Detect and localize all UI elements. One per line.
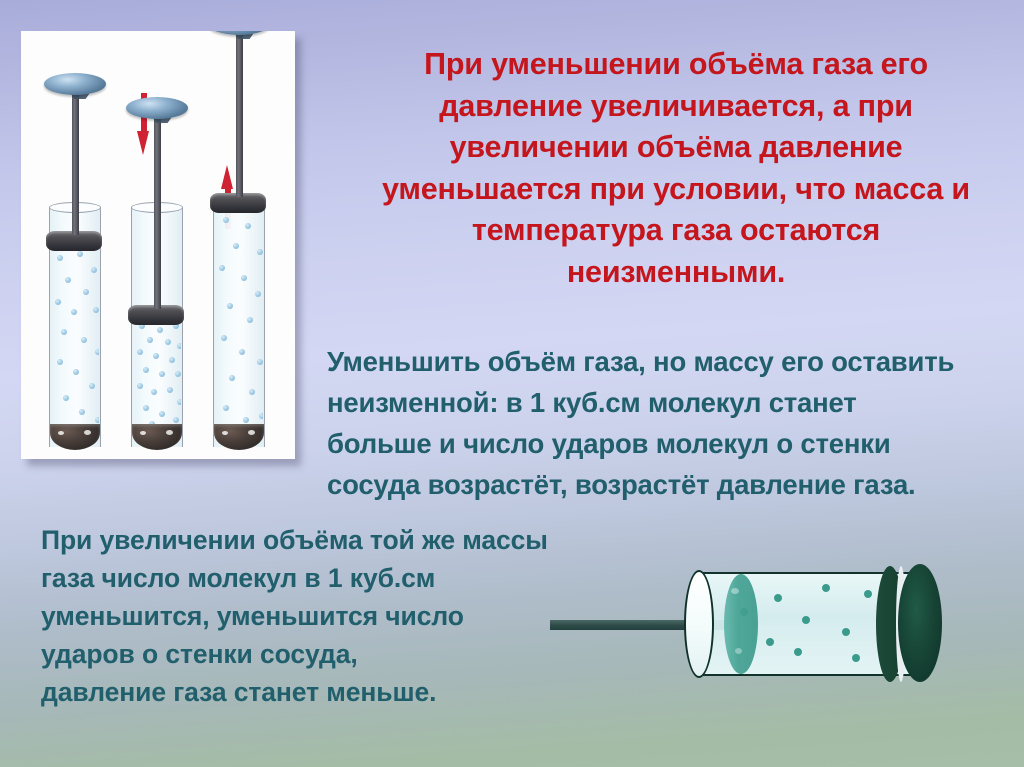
gas-molecule: [73, 369, 79, 375]
gas-region: [215, 209, 263, 431]
left-figure-frame: [21, 31, 295, 459]
gas-molecule: [63, 395, 69, 401]
gas-molecule: [151, 389, 157, 395]
gas-molecule: [257, 359, 263, 365]
gas-molecule: [167, 387, 173, 393]
red-statement-line: давление увеличивается, а при: [340, 86, 1012, 128]
gas-molecule: [165, 339, 171, 345]
gas-molecule: [802, 616, 810, 624]
gas-molecule: [245, 223, 251, 229]
gas-molecule: [223, 217, 229, 223]
gas-molecule: [159, 411, 165, 417]
syringe-plunger-disc: [724, 574, 758, 674]
gas-molecule: [177, 343, 181, 349]
teal-statement-paragraph: Уменьшить объём газа, но массу его остав…: [327, 341, 1023, 505]
gas-molecule: [864, 590, 872, 598]
plunger-thumb-cap: [126, 97, 188, 119]
gas-molecule: [81, 337, 87, 343]
syringe-front-rim: [684, 570, 714, 678]
gas-molecule: [233, 243, 239, 249]
gas-molecule: [852, 654, 860, 662]
gas-region: [51, 245, 99, 431]
gas-molecule: [95, 349, 99, 355]
gas-molecule: [173, 417, 179, 423]
gas-molecule: [71, 309, 77, 315]
teal-statement-line: сосуда возрастёт, возрастёт давление газ…: [327, 464, 1023, 505]
gas-region: [133, 319, 181, 431]
gas-molecule: [175, 371, 181, 377]
teal-statement-line: больше и число ударов молекул о стенки: [327, 423, 1023, 464]
gas-molecule: [241, 275, 247, 281]
gas-molecule: [91, 267, 97, 273]
gas-molecule: [822, 584, 830, 592]
teal-statement-line: неизменной: в 1 куб.см молекул станет: [327, 382, 1023, 423]
red-statement-line: температура газа остаются: [340, 210, 1012, 252]
gas-molecule: [137, 349, 143, 355]
syringe-nozzle-bulb: [132, 424, 182, 450]
gas-molecule: [143, 405, 149, 411]
gas-molecule: [89, 383, 95, 389]
syringe-compressed: [131, 47, 183, 447]
gas-molecule: [794, 648, 802, 656]
slide-canvas: При уменьшении объёма газа его давление …: [0, 0, 1024, 767]
plunger-rod: [236, 31, 243, 197]
gas-molecule: [83, 289, 89, 295]
gas-molecule: [249, 389, 255, 395]
plunger-thumb-cap: [208, 31, 270, 35]
syringe-neutral: [49, 47, 101, 447]
gas-molecule: [177, 399, 181, 405]
gas-molecule: [223, 405, 229, 411]
gas-molecule: [157, 327, 163, 333]
red-statement-paragraph: При уменьшении объёма газа его давление …: [340, 44, 1012, 293]
gas-molecule: [79, 409, 85, 415]
plunger-thumb-cap: [44, 73, 106, 95]
gas-molecule: [61, 329, 67, 335]
red-statement-line: увеличении объёма давление: [340, 127, 1012, 169]
red-statement-line: неизменными.: [340, 252, 1012, 294]
gas-molecule: [774, 594, 782, 602]
gas-molecule: [159, 371, 165, 377]
plunger-rod: [72, 89, 79, 235]
bottom-statement-line: При увеличении объёма той же массы: [41, 521, 641, 559]
syringe-cap-front: [898, 564, 942, 682]
syringe-nozzle-bulb: [50, 424, 100, 450]
gas-molecule: [55, 299, 61, 305]
red-statement-line: При уменьшении объёма газа его: [340, 44, 1012, 86]
gas-molecule: [221, 335, 227, 341]
gas-molecule: [766, 638, 774, 646]
gas-molecule: [153, 353, 159, 359]
gas-molecule: [247, 317, 253, 323]
gas-molecule: [57, 359, 63, 365]
gas-molecule: [259, 413, 263, 419]
gas-molecule: [229, 375, 235, 381]
syringe-barrel: [213, 207, 265, 447]
gas-molecule: [77, 251, 83, 257]
gas-molecule: [65, 277, 71, 283]
three-syringes-gas-compression-diagram: [21, 31, 295, 459]
gas-molecule: [143, 367, 149, 373]
gas-molecule: [227, 303, 233, 309]
gas-molecule: [95, 417, 99, 423]
gas-molecule: [257, 249, 263, 255]
gas-molecule: [137, 383, 143, 389]
gas-molecule: [93, 307, 99, 313]
red-statement-line: уменьшается при условии, что масса и: [340, 169, 1012, 211]
gas-molecule: [57, 255, 63, 261]
gas-molecule: [169, 357, 175, 363]
gas-molecule: [243, 417, 249, 423]
plunger-rod: [154, 113, 161, 309]
gas-molecule: [147, 337, 153, 343]
gas-molecule: [239, 349, 245, 355]
teal-statement-line: Уменьшить объём газа, но массу его остав…: [327, 341, 1023, 382]
syringe-nozzle-bulb: [214, 424, 264, 450]
gas-molecule: [255, 291, 261, 297]
horizontal-syringe-gas-molecules: [548, 556, 1000, 696]
syringe-expanded: [213, 31, 265, 447]
gas-molecule: [842, 628, 850, 636]
gas-molecule: [219, 265, 225, 271]
